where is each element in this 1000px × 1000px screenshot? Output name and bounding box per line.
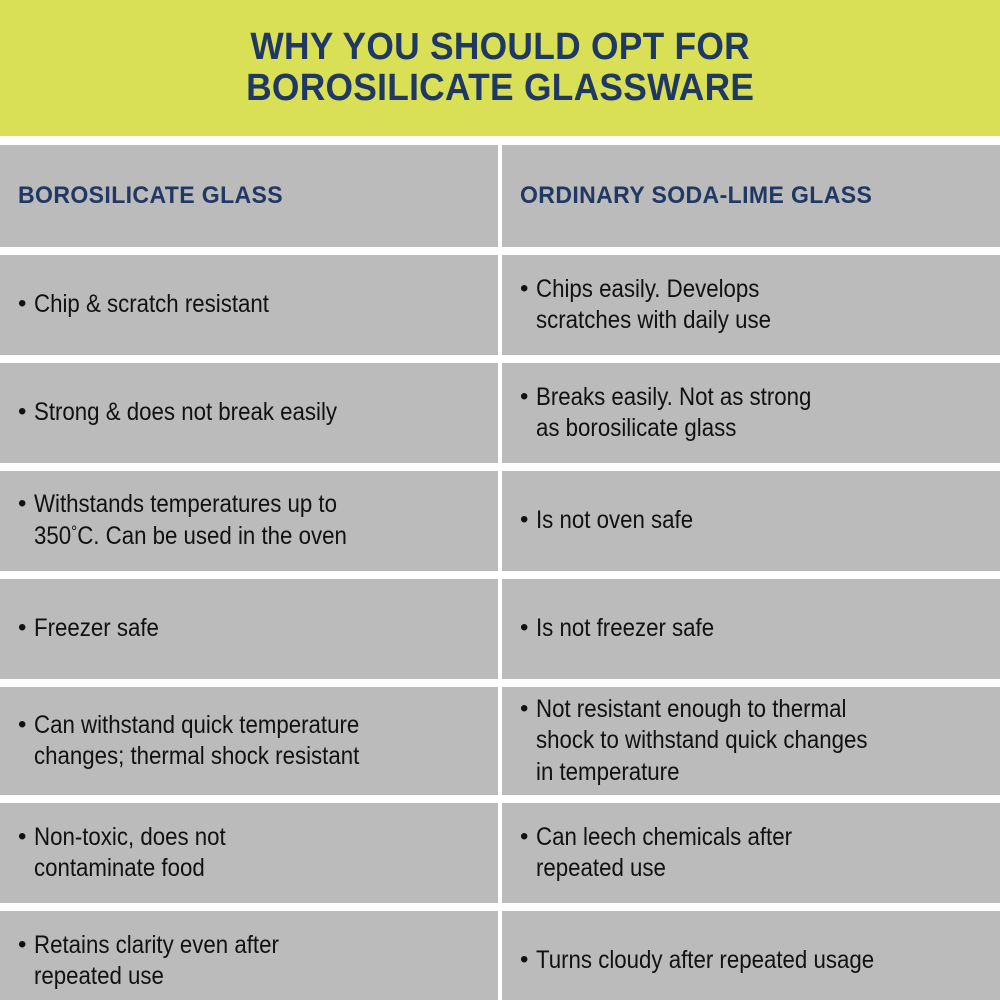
table-cell-right: • Can leech chemicals after repeated use	[502, 803, 1000, 903]
list-item: • Withstands temperatures up to350°C. Ca…	[18, 489, 386, 552]
table-cell-left: • Withstands temperatures up to350°C. Ca…	[0, 471, 498, 571]
title-banner: WHY YOU SHOULD OPT FOR BOROSILICATE GLAS…	[0, 0, 1000, 136]
list-item-text: Strong & does not break easily	[34, 397, 337, 429]
infographic-comparison-table: WHY YOU SHOULD OPT FOR BOROSILICATE GLAS…	[0, 0, 1000, 1000]
list-item-text: Chip & scratch resistant	[34, 289, 269, 321]
table-cell-left: • Chip & scratch resistant	[0, 255, 498, 355]
column-header-soda-lime: ORDINARY SODA-LIME GLASS	[502, 145, 1000, 247]
list-item-text: Non-toxic, does not contaminate food	[34, 822, 226, 885]
page-title: WHY YOU SHOULD OPT FOR BOROSILICATE GLAS…	[246, 27, 754, 109]
column-header-label: BOROSILICATE GLASS	[18, 182, 283, 210]
list-item-text: Freezer safe	[34, 613, 159, 645]
table-row: • Non-toxic, does not contaminate food •…	[0, 803, 1000, 903]
column-header-label: ORDINARY SODA-LIME GLASS	[520, 182, 872, 210]
list-item-text: Is not freezer safe	[536, 613, 714, 645]
list-item: • Non-toxic, does not contaminate food	[18, 822, 249, 885]
list-item-text: Breaks easily. Not as strong as borosili…	[536, 382, 811, 445]
bullet-icon: •	[18, 930, 34, 960]
list-item: • Can withstand quick temperature change…	[18, 710, 399, 773]
list-item: • Turns cloudy after repeated usage	[520, 945, 916, 977]
table-cell-right: • Breaks easily. Not as strong as borosi…	[502, 363, 1000, 463]
table-row: • Withstands temperatures up to350°C. Ca…	[0, 471, 1000, 571]
bullet-icon: •	[520, 505, 536, 535]
list-item: • Not resistant enough to thermal shock …	[520, 694, 908, 789]
table-cell-left: • Strong & does not break easily	[0, 363, 498, 463]
table-cell-left: • Non-toxic, does not contaminate food	[0, 803, 498, 903]
list-item: • Strong & does not break easily	[18, 397, 374, 429]
column-header-borosilicate: BOROSILICATE GLASS	[0, 145, 498, 247]
bullet-icon: •	[18, 289, 34, 319]
bullet-icon: •	[18, 613, 34, 643]
bullet-icon: •	[18, 397, 34, 427]
table-row: • Can withstand quick temperature change…	[0, 687, 1000, 795]
list-item-text: Withstands temperatures up to350°C. Can …	[34, 489, 347, 552]
table-cell-right: • Is not freezer safe	[502, 579, 1000, 679]
list-item: • Chips easily. Develops scratches with …	[520, 274, 800, 337]
list-item-text: Not resistant enough to thermal shock to…	[536, 694, 867, 789]
list-item: • Breaks easily. Not as strong as borosi…	[520, 382, 845, 445]
table-row: • Retains clarity even after repeated us…	[0, 911, 1000, 1000]
bullet-icon: •	[520, 822, 536, 852]
bullet-icon: •	[18, 822, 34, 852]
bullet-icon: •	[520, 694, 536, 724]
table-cell-left: • Can withstand quick temperature change…	[0, 687, 498, 795]
list-item: • Retains clarity even after repeated us…	[18, 930, 309, 993]
list-item-text: Retains clarity even after repeated use	[34, 930, 279, 993]
list-item: • Freezer safe	[18, 613, 174, 645]
list-item-text: Can withstand quick temperature changes;…	[34, 710, 359, 773]
list-item-text: Can leech chemicals after repeated use	[536, 822, 792, 885]
table-cell-left: • Freezer safe	[0, 579, 498, 679]
list-item: • Can leech chemicals after repeated use	[520, 822, 824, 885]
list-item-text: Turns cloudy after repeated usage	[536, 945, 874, 977]
table-header-row: BOROSILICATE GLASS ORDINARY SODA-LIME GL…	[0, 145, 1000, 247]
bullet-icon: •	[520, 613, 536, 643]
table-cell-right: • Chips easily. Develops scratches with …	[502, 255, 1000, 355]
table-row: • Chip & scratch resistant • Chips easil…	[0, 255, 1000, 355]
table-cell-right: • Not resistant enough to thermal shock …	[502, 687, 1000, 795]
table-row: • Strong & does not break easily • Break…	[0, 363, 1000, 463]
list-item-text: Chips easily. Develops scratches with da…	[536, 274, 771, 337]
bullet-icon: •	[520, 274, 536, 304]
bullet-icon: •	[18, 710, 34, 740]
table-cell-left: • Retains clarity even after repeated us…	[0, 911, 498, 1000]
table-cell-right: • Is not oven safe	[502, 471, 1000, 571]
bullet-icon: •	[18, 489, 34, 519]
list-item-text: Is not oven safe	[536, 505, 693, 537]
list-item: • Is not freezer safe	[520, 613, 736, 645]
list-item: • Is not oven safe	[520, 505, 713, 537]
bullet-icon: •	[520, 945, 536, 975]
table-row: • Freezer safe • Is not freezer safe	[0, 579, 1000, 679]
comparison-table: BOROSILICATE GLASS ORDINARY SODA-LIME GL…	[0, 136, 1000, 1000]
bullet-icon: •	[520, 382, 536, 412]
list-item: • Chip & scratch resistant	[18, 289, 298, 321]
table-cell-right: • Turns cloudy after repeated usage	[502, 911, 1000, 1000]
